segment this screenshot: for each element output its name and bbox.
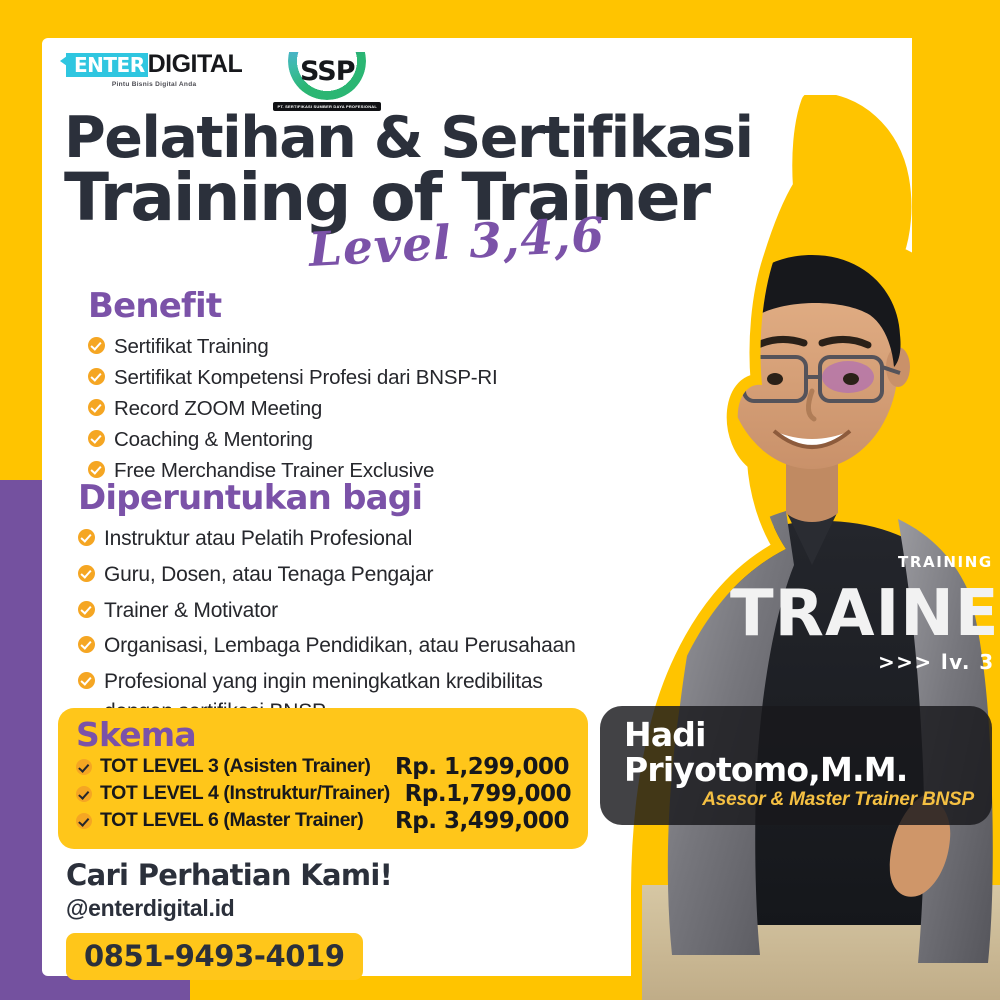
benefit-item-label: Sertifikat Training (114, 332, 269, 361)
ssp-arc-icon: SSP (288, 52, 366, 100)
ear-left (714, 347, 738, 387)
poster-root: ENTER DIGITAL Pintu Bisnis Digital Anda … (0, 0, 1000, 1000)
list-item: Coaching & Mentoring (88, 425, 498, 454)
speaker-name: Hadi Priyotomo,M.M. (624, 718, 974, 787)
list-item: Trainer & Motivator (78, 596, 576, 626)
skema-level-label: TOT LEVEL 3 (Asisten Trainer) (100, 755, 384, 778)
benefit-list: Sertifikat Training Sertifikat Kompetens… (88, 332, 498, 486)
audience-heading: Diperuntukan bagi (78, 478, 576, 518)
digital-word: DIGITAL (148, 52, 243, 77)
audience-section: Diperuntukan bagi Instruktur atau Pelati… (78, 478, 576, 733)
skema-price: Rp. 1,299,000 (392, 754, 572, 780)
eye-left (767, 373, 783, 385)
audience-item-label: Organisasi, Lembaga Pendidikan, atau Per… (104, 631, 576, 661)
check-icon (78, 565, 95, 582)
enter-badge: ENTER (66, 53, 148, 77)
benefit-item-label: Record ZOOM Meeting (114, 394, 322, 423)
check-icon (76, 813, 92, 829)
skema-price: Rp. 3,499,000 (392, 808, 572, 834)
benefit-item-label: Coaching & Mentoring (114, 425, 313, 454)
check-icon (88, 461, 105, 478)
list-item: Sertifikat Training (88, 332, 498, 361)
skema-level-label: TOT LEVEL 4 (Instruktur/Trainer) (100, 782, 390, 805)
phone-number-badge[interactable]: 0851-9493-4019 (66, 933, 363, 980)
ssp-logo: SSP PT. SERTIFIKASI SUMBER DAYA PROFESIO… (284, 52, 370, 111)
contact-block: Cari Perhatian Kami! @enterdigital.id 08… (66, 858, 392, 980)
skema-level-label: TOT LEVEL 6 (Master Trainer) (100, 809, 384, 832)
list-item: Record ZOOM Meeting (88, 394, 498, 423)
table-row: TOT LEVEL 3 (Asisten Trainer) Rp. 1,299,… (76, 754, 572, 780)
shirt-print-line1: TRAINING O (898, 553, 1000, 571)
check-icon (88, 399, 105, 416)
list-item: Guru, Dosen, atau Tenaga Pengajar (78, 560, 576, 590)
logo-row: ENTER DIGITAL Pintu Bisnis Digital Anda … (66, 52, 370, 111)
speaker-role: Asesor & Master Trainer BNSP (624, 789, 974, 811)
audience-list: Instruktur atau Pelatih Profesional Guru… (78, 524, 576, 727)
audience-item-label: Guru, Dosen, atau Tenaga Pengajar (104, 560, 433, 590)
enter-digital-wordmark: ENTER DIGITAL (66, 52, 242, 77)
check-icon (88, 368, 105, 385)
list-item: Sertifikat Kompetensi Profesi dari BNSP-… (88, 363, 498, 392)
audience-item-label: Profesional yang ingin meningkatkan kred… (104, 667, 543, 697)
skema-box: Skema TOT LEVEL 3 (Asisten Trainer) Rp. … (58, 708, 588, 849)
ssp-wordmark: SSP (288, 56, 366, 87)
table-row: TOT LEVEL 6 (Master Trainer) Rp. 3,499,0… (76, 808, 572, 834)
check-icon (78, 636, 95, 653)
check-icon (76, 786, 92, 802)
audience-item-label: Instruktur atau Pelatih Profesional (104, 524, 412, 554)
skema-heading: Skema (76, 718, 572, 753)
check-icon (88, 430, 105, 447)
skema-price: Rp.1,799,000 (398, 781, 578, 807)
enter-digital-tagline: Pintu Bisnis Digital Anda (112, 81, 197, 88)
check-icon (78, 529, 95, 546)
eye-right (843, 373, 859, 385)
check-icon (78, 601, 95, 618)
list-item: Instruktur atau Pelatih Profesional (78, 524, 576, 554)
check-icon (78, 672, 95, 689)
title-block: Pelatihan & Sertifikasi Training of Trai… (64, 110, 753, 278)
shirt-print-line2: TRAINER (730, 577, 1000, 651)
check-icon (88, 337, 105, 354)
benefit-section: Benefit Sertifikat Training Sertifikat K… (88, 286, 498, 488)
speaker-nameplate: Hadi Priyotomo,M.M. Asesor & Master Trai… (600, 706, 992, 825)
audience-item-label: Trainer & Motivator (104, 596, 278, 626)
shirt-print-line3: >>> lv. 3 (878, 650, 995, 674)
list-item: Organisasi, Lembaga Pendidikan, atau Per… (78, 631, 576, 661)
benefit-heading: Benefit (88, 286, 498, 326)
instagram-handle[interactable]: @enterdigital.id (66, 895, 392, 922)
check-icon (76, 759, 92, 775)
contact-cta-text: Cari Perhatian Kami! (66, 858, 392, 892)
table-row: TOT LEVEL 4 (Instruktur/Trainer) Rp.1,79… (76, 781, 572, 807)
neck (786, 461, 838, 522)
enter-digital-logo: ENTER DIGITAL Pintu Bisnis Digital Anda (66, 52, 242, 88)
benefit-item-label: Sertifikat Kompetensi Profesi dari BNSP-… (114, 363, 498, 392)
